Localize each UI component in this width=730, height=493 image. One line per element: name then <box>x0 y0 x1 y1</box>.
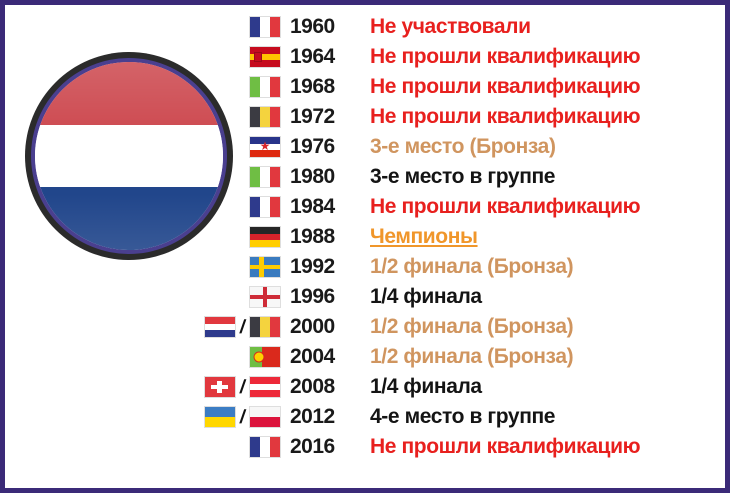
result-label: Не прошли квалификацию <box>370 75 730 99</box>
year-label: 1984 <box>290 195 370 219</box>
year-label: 1968 <box>290 75 370 99</box>
year-label: 1976 <box>290 135 370 159</box>
flag-yugoslavia-icon: ★ <box>250 137 280 157</box>
result-label: Не прошли квалификацию <box>370 45 730 69</box>
table-row: 19803-е место в группе <box>185 162 730 192</box>
flag-separator: / <box>238 408 246 427</box>
flag-italy-icon <box>250 77 280 97</box>
host-flags <box>185 197 290 217</box>
flag-spain-icon <box>250 47 280 67</box>
result-label: 3-е место в группе <box>370 165 730 189</box>
year-label: 1988 <box>290 225 370 249</box>
flag-belgium-icon <box>250 317 280 337</box>
flag-france-icon <box>250 197 280 217</box>
table-row: /20124-е место в группе <box>185 402 730 432</box>
table-row: 19961/4 финала <box>185 282 730 312</box>
flag-portugal-icon <box>250 347 280 367</box>
result-label: 3-е место (Бронза) <box>370 135 730 159</box>
table-row: 1972Не прошли квалификацию <box>185 102 730 132</box>
result-label: 1/4 финала <box>370 375 730 399</box>
host-flags <box>185 17 290 37</box>
result-label: Не прошли квалификацию <box>370 435 730 459</box>
table-row: 1988Чемпионы <box>185 222 730 252</box>
flag-separator: / <box>238 378 246 397</box>
result-label: 1/2 финала (Бронза) <box>370 345 730 369</box>
result-label: 1/2 финала (Бронза) <box>370 255 730 279</box>
poster-frame: 1960Не участвовали1964Не прошли квалифик… <box>0 0 730 493</box>
host-flags <box>185 107 290 127</box>
result-label: Не прошли квалификацию <box>370 195 730 219</box>
flag-france-icon <box>250 17 280 37</box>
year-label: 1992 <box>290 255 370 279</box>
result-label: 4-е место в группе <box>370 405 730 429</box>
year-label: 1960 <box>290 15 370 39</box>
table-row: /20001/2 финала (Бронза) <box>185 312 730 342</box>
flag-germany-icon <box>250 227 280 247</box>
table-row: 19921/2 финала (Бронза) <box>185 252 730 282</box>
flag-austria-icon <box>250 377 280 397</box>
result-label: Не участвовали <box>370 15 730 39</box>
table-row: 1964Не прошли квалификацию <box>185 42 730 72</box>
result-label: 1/2 финала (Бронза) <box>370 315 730 339</box>
year-label: 2000 <box>290 315 370 339</box>
flag-italy-icon <box>250 167 280 187</box>
host-flags: / <box>185 407 290 427</box>
result-label: Чемпионы <box>370 225 730 249</box>
host-flags <box>185 287 290 307</box>
table-row: /20081/4 финала <box>185 372 730 402</box>
host-flags: ★ <box>185 137 290 157</box>
table-row: 1960Не участвовали <box>185 12 730 42</box>
result-label: 1/4 финала <box>370 285 730 309</box>
host-flags <box>185 77 290 97</box>
table-row: 20041/2 финала (Бронза) <box>185 342 730 372</box>
host-flags <box>185 347 290 367</box>
host-flags <box>185 167 290 187</box>
year-label: 2008 <box>290 375 370 399</box>
host-flags: / <box>185 377 290 397</box>
tournament-history-table: 1960Не участвовали1964Не прошли квалифик… <box>185 12 730 462</box>
table-row: ★19763-е место (Бронза) <box>185 132 730 162</box>
table-row: 2016Не прошли квалификацию <box>185 432 730 462</box>
flag-france-icon <box>250 437 280 457</box>
year-label: 2004 <box>290 345 370 369</box>
flag-belgium-icon <box>250 107 280 127</box>
year-label: 1980 <box>290 165 370 189</box>
flag-poland-icon <box>250 407 280 427</box>
host-flags: / <box>185 317 290 337</box>
year-label: 1996 <box>290 285 370 309</box>
host-flags <box>185 227 290 247</box>
table-row: 1984Не прошли квалификацию <box>185 192 730 222</box>
flag-england-icon <box>250 287 280 307</box>
year-label: 2012 <box>290 405 370 429</box>
host-flags <box>185 257 290 277</box>
flag-sweden-icon <box>250 257 280 277</box>
year-label: 2016 <box>290 435 370 459</box>
host-flags <box>185 437 290 457</box>
flag-separator: / <box>238 318 246 337</box>
flag-ukraine-icon <box>205 407 235 427</box>
host-flags <box>185 47 290 67</box>
flag-netherlands-icon <box>205 317 235 337</box>
year-label: 1964 <box>290 45 370 69</box>
flag-switzerland-icon <box>205 377 235 397</box>
year-label: 1972 <box>290 105 370 129</box>
result-label: Не прошли квалификацию <box>370 105 730 129</box>
table-row: 1968Не прошли квалификацию <box>185 72 730 102</box>
